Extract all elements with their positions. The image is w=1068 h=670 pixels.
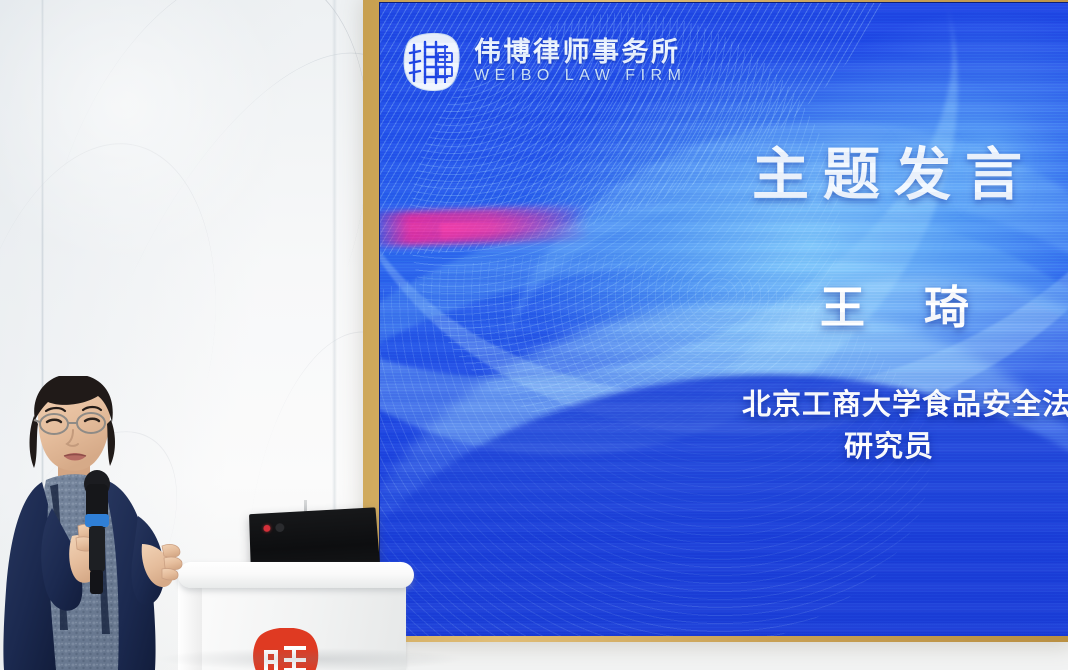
- presentation-photo-scene: 伟博律师事务所 WEIBO LAW FIRM 主题发言 王 琦 北京工商大学食品…: [0, 0, 1068, 670]
- laptop-indicator-icon: [263, 525, 270, 532]
- laptop-logo-icon: [275, 523, 284, 532]
- screen-scanlines: [380, 3, 1068, 636]
- presentation-screen: 伟博律师事务所 WEIBO LAW FIRM 主题发言 王 琦 北京工商大学食品…: [379, 2, 1068, 636]
- speaker-person: [0, 376, 226, 670]
- speaker-head: [30, 376, 116, 471]
